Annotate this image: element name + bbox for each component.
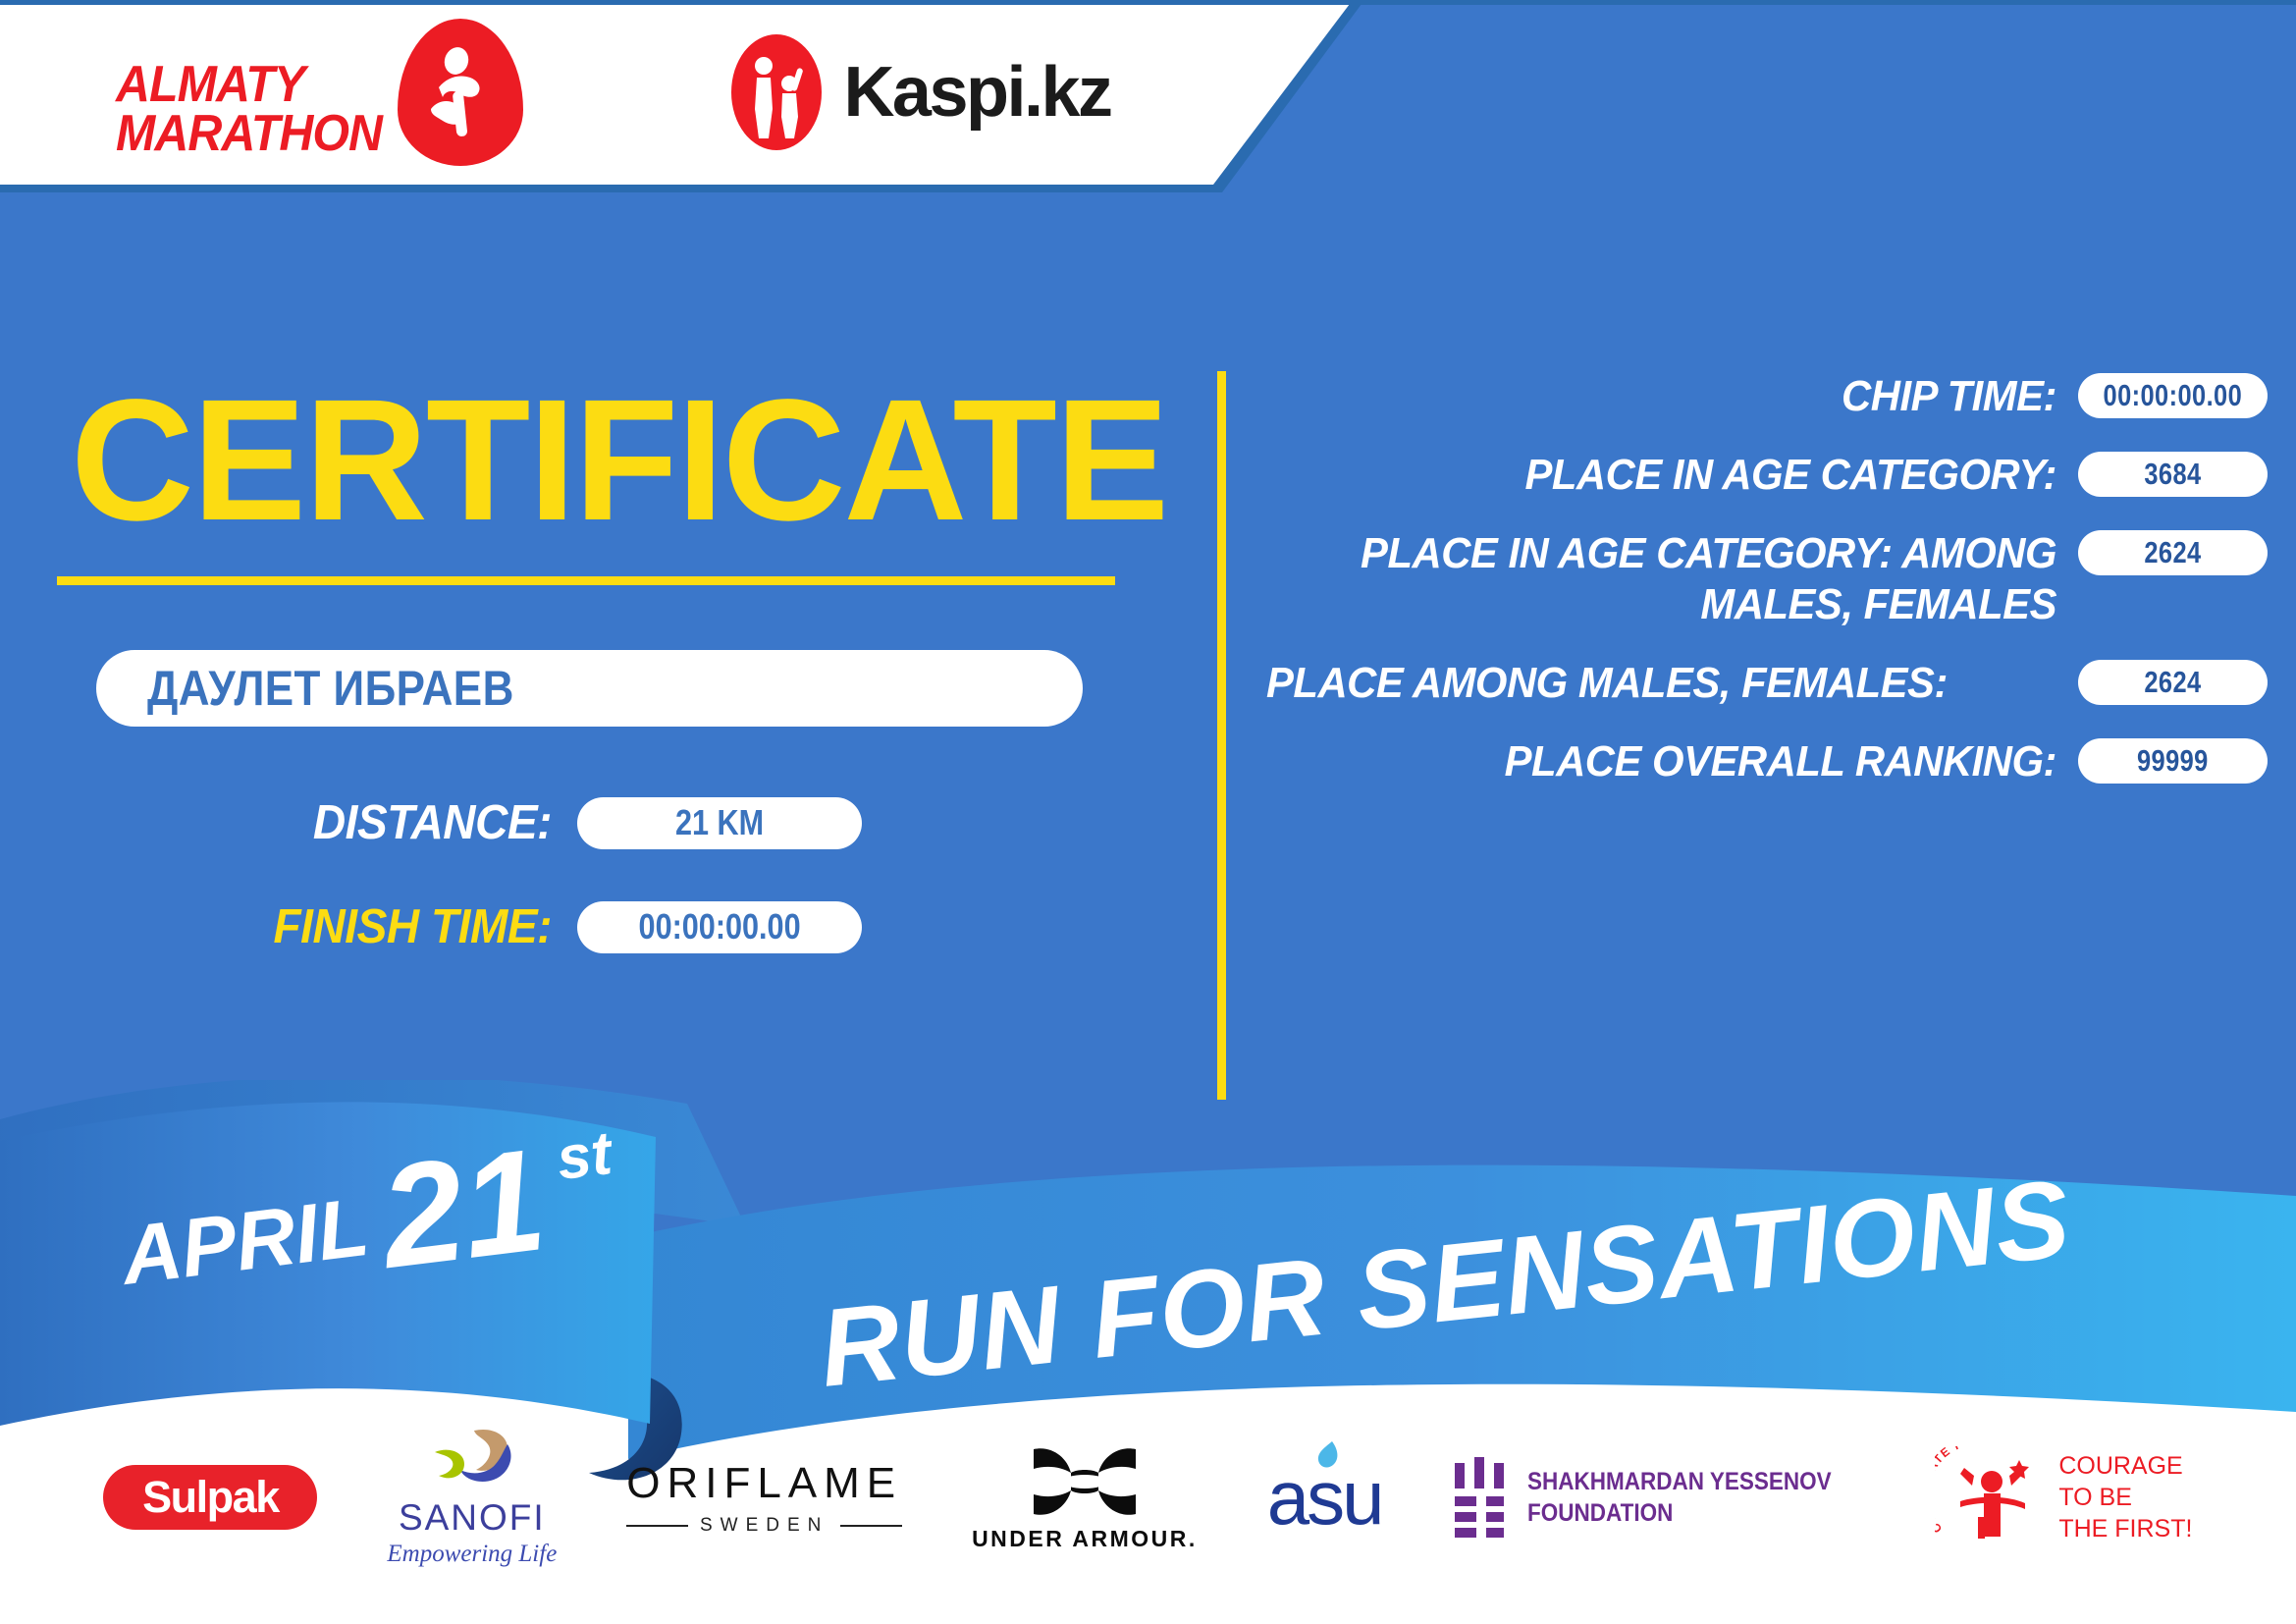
under-armour-icon <box>1022 1443 1148 1520</box>
sponsor-strip: Sulpak SANOFI Empowering Life ORIFLAME S… <box>0 1371 2296 1624</box>
sponsor-sanofi: SANOFI Empowering Life <box>387 1427 557 1568</box>
right-stat-value-pill: 2624 <box>2078 660 2268 705</box>
sponsor-courage-fund: CORPORATE FUND COURAGE TO BE THE FIRST! <box>1935 1446 2192 1548</box>
left-stat-row: FINISH TIME:00:00:00.00 <box>0 899 1168 954</box>
left-stat-row: DISTANCE:21 KM <box>0 795 1168 850</box>
courage-line3: THE FIRST! <box>2058 1513 2192 1544</box>
header-logos: ALMATY MARATHON <box>0 0 1178 185</box>
under-armour-wordmark: UNDER ARMOUR. <box>972 1526 1198 1552</box>
right-stat-value: 99999 <box>2137 743 2209 779</box>
yessenov-icon <box>1451 1457 1510 1538</box>
oriflame-sub: SWEDEN <box>626 1515 902 1537</box>
right-stats-list: CHIP TIME:00:00:00.00PLACE IN AGE CATEGO… <box>1266 371 2268 814</box>
left-column: CERTIFICATE ДАУЛЕТ ИБРАЕВ DISTANCE:21 KM… <box>0 192 1168 1003</box>
right-stat-row: CHIP TIME:00:00:00.00 <box>1266 371 2268 422</box>
oriflame-rule-left <box>626 1525 688 1527</box>
right-stat-value: 2624 <box>2144 665 2201 700</box>
sponsor-oriflame: ORIFLAME SWEDEN <box>626 1459 902 1537</box>
certificate-canvas: ALMATY MARATHON <box>0 0 2296 1624</box>
runner-glyph <box>413 44 507 142</box>
kaspi-people-glyph <box>745 44 810 142</box>
sponsor-under-armour: UNDER ARMOUR. <box>972 1443 1198 1552</box>
svg-text:21: 21 <box>370 1118 553 1299</box>
right-stat-label: PLACE OVERALL RANKING: <box>1306 736 2056 787</box>
oriflame-rule-right <box>840 1525 902 1527</box>
left-stat-value: 00:00:00.00 <box>638 906 800 947</box>
sanofi-icon <box>421 1427 523 1493</box>
right-stat-value: 00:00:00.00 <box>2104 378 2243 413</box>
sulpak-logo: Sulpak <box>103 1465 317 1530</box>
yessenov-wordmark: SHAKHMARDAN YESSENOV FOUNDATION <box>1527 1466 1832 1530</box>
right-stat-label: PLACE IN AGE CATEGORY: <box>1306 450 2056 501</box>
runner-drop-icon <box>398 19 523 166</box>
right-stat-value-pill: 99999 <box>2078 738 2268 784</box>
left-stat-label: FINISH TIME: <box>33 899 552 954</box>
participant-name-value: ДАУЛЕТ ИБРАЕВ <box>147 660 514 717</box>
yessenov-line2: FOUNDATION <box>1527 1497 1832 1530</box>
right-stat-value-pill: 3684 <box>2078 452 2268 497</box>
oriflame-tagline: SWEDEN <box>700 1515 828 1537</box>
yessenov-line1: SHAKHMARDAN YESSENOV <box>1527 1466 1832 1498</box>
right-stat-value: 2624 <box>2144 535 2201 570</box>
courage-line2: TO BE <box>2058 1482 2192 1513</box>
sponsor-sulpak: Sulpak <box>103 1465 317 1530</box>
kaspi-logo: Kaspi.kz <box>731 34 1110 150</box>
right-stat-label: PLACE AMONG MALES, FEMALES: <box>1266 658 2017 709</box>
title-underline <box>57 576 1115 585</box>
right-stat-value-pill: 2624 <box>2078 530 2268 575</box>
vertical-divider <box>1217 371 1226 1100</box>
marathon-line: MARATHON <box>116 109 382 158</box>
almaty-marathon-logo: ALMATY MARATHON <box>116 19 523 166</box>
left-stat-label: DISTANCE: <box>33 795 552 850</box>
right-stat-row: PLACE IN AGE CATEGORY:3684 <box>1266 450 2268 501</box>
oriflame-wordmark: ORIFLAME <box>626 1459 902 1508</box>
right-stat-row: PLACE IN AGE CATEGORY: AMONG MALES, FEMA… <box>1266 528 2268 630</box>
courage-wordmark: COURAGE TO BE THE FIRST! <box>2058 1450 2192 1544</box>
right-stat-row: PLACE OVERALL RANKING:99999 <box>1266 736 2268 787</box>
right-stat-label: PLACE IN AGE CATEGORY: AMONG MALES, FEMA… <box>1306 528 2056 630</box>
almaty-line: ALMATY <box>116 60 382 109</box>
participant-name-field: ДАУЛЕТ ИБРАЕВ <box>96 650 1083 727</box>
almaty-marathon-wordmark: ALMATY MARATHON <box>116 60 382 159</box>
left-stat-value: 21 KM <box>675 802 764 843</box>
right-stat-value-pill: 00:00:00.00 <box>2078 373 2268 418</box>
sponsor-yessenov: SHAKHMARDAN YESSENOV FOUNDATION <box>1451 1457 1865 1538</box>
asu-wordmark: asu <box>1267 1453 1382 1543</box>
right-stat-row: PLACE AMONG MALES, FEMALES:2624 <box>1266 658 2268 709</box>
right-stat-value: 3684 <box>2144 457 2201 492</box>
sanofi-tagline: Empowering Life <box>387 1541 557 1568</box>
left-stat-value-pill: 00:00:00.00 <box>577 901 862 953</box>
sponsor-asu: asu <box>1267 1453 1382 1543</box>
asu-drop-icon <box>1312 1439 1344 1475</box>
courage-line1: COURAGE <box>2058 1450 2192 1482</box>
left-stats-list: DISTANCE:21 KMFINISH TIME:00:00:00.00 <box>0 795 1168 954</box>
kaspi-wordmark: Kaspi.kz <box>843 52 1110 133</box>
sulpak-wordmark: Sulpak <box>142 1472 279 1523</box>
left-stat-value-pill: 21 KM <box>577 797 862 849</box>
page-title: CERTIFICATE <box>71 374 1157 547</box>
courage-fund-icon: CORPORATE FUND <box>1935 1446 2045 1548</box>
right-stat-label: CHIP TIME: <box>1306 371 2056 422</box>
svg-text:st: st <box>554 1119 617 1193</box>
sanofi-wordmark: SANOFI <box>399 1497 546 1539</box>
kaspi-figure-icon <box>731 34 822 150</box>
